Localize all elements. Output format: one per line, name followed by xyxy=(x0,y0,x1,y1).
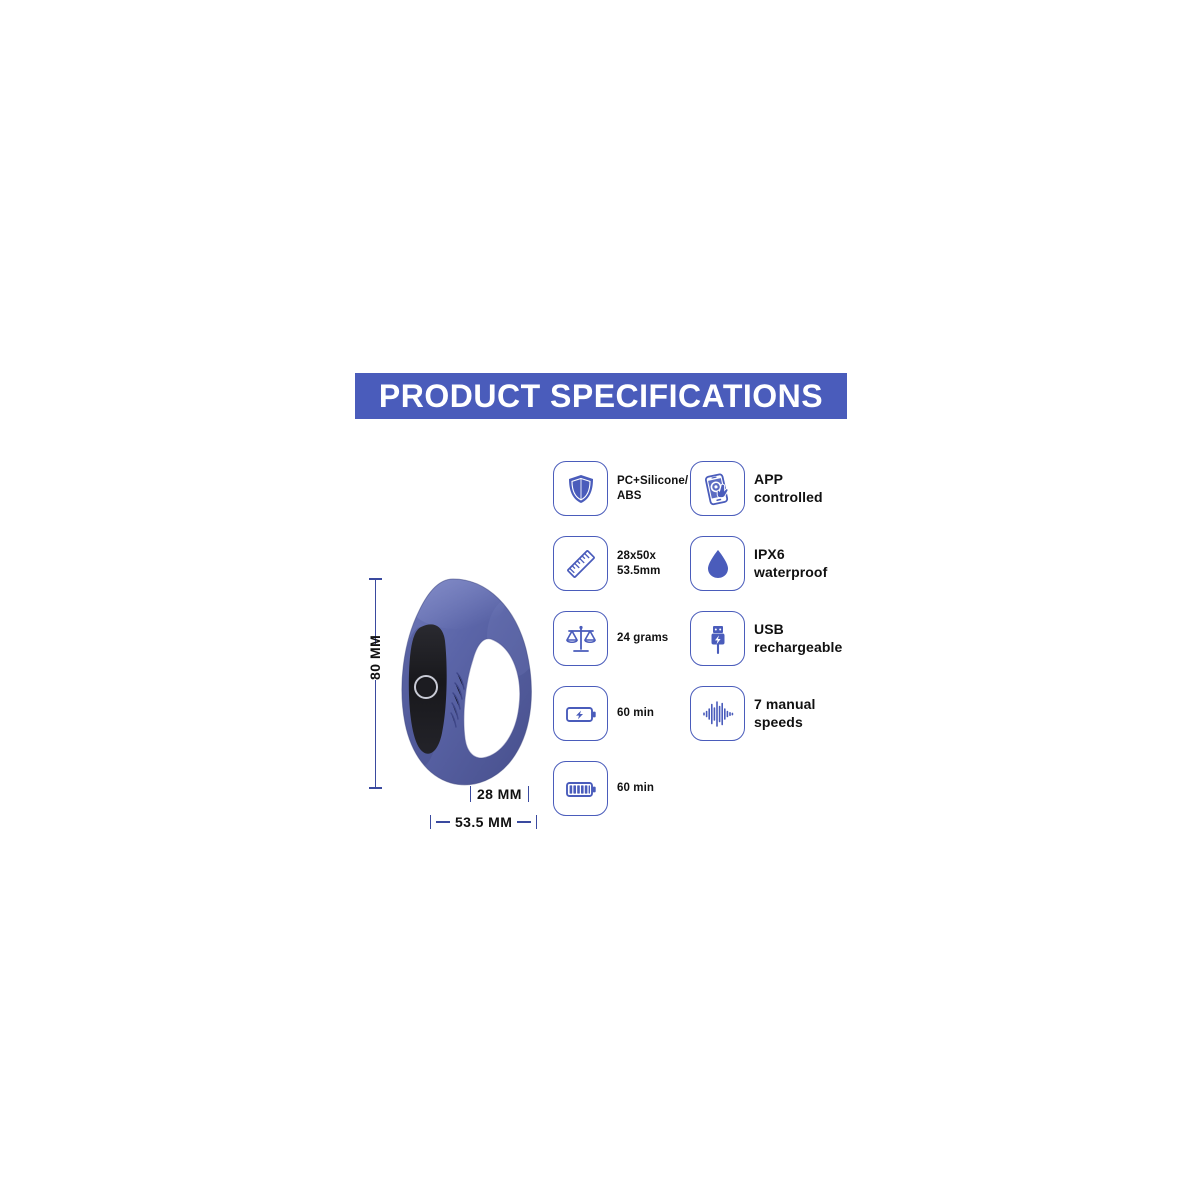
spec-label-speeds: 7 manualspeeds xyxy=(754,696,816,730)
spec-item-waterproof: IPX6waterproof xyxy=(690,536,860,591)
battery-full-icon xyxy=(553,761,608,816)
dim-height-label: 80 MM xyxy=(365,644,385,680)
spec-row: 28x50x53.5mm IPX6waterproof xyxy=(553,536,863,611)
dim-height-line xyxy=(375,578,376,788)
balance-scale-icon xyxy=(553,611,608,666)
spec-item-size: 28x50x53.5mm xyxy=(553,536,690,591)
spec-item-charge-time: 60 min xyxy=(553,686,690,741)
product-spec-sheet: PRODUCT SPECIFICATIONS xyxy=(0,0,1200,1200)
dim-width: 53.5 MM xyxy=(430,814,537,830)
spec-row: 60 min xyxy=(553,761,863,836)
dim-width-label: 53.5 MM xyxy=(455,814,512,830)
dim-depth-label: 28 MM xyxy=(477,786,522,802)
usb-plug-icon xyxy=(690,611,745,666)
ruler-icon xyxy=(553,536,608,591)
specifications-grid: PC+Silicone/ABS xyxy=(553,461,863,836)
dim-height-cap-bottom xyxy=(369,787,382,789)
spec-label-material: PC+Silicone/ABS xyxy=(617,474,688,502)
dim-width-bar-left xyxy=(436,821,450,823)
spec-item-weight: 24 grams xyxy=(553,611,690,666)
spec-label-app-controlled: APPcontrolled xyxy=(754,471,823,505)
phone-touch-icon xyxy=(690,461,745,516)
dim-depth-tick-left xyxy=(470,786,471,802)
spec-row: 24 grams USBrechargeable xyxy=(553,611,863,686)
spec-label-waterproof: IPX6waterproof xyxy=(754,546,827,580)
dim-width-cap-right xyxy=(536,815,537,829)
dim-depth: 28 MM xyxy=(470,786,529,802)
spec-item-usb: USBrechargeable xyxy=(690,611,860,666)
spec-item-run-time: 60 min xyxy=(553,761,690,816)
product-illustration xyxy=(395,577,540,792)
page-title: PRODUCT SPECIFICATIONS xyxy=(379,380,823,412)
spec-item-app-controlled: APPcontrolled xyxy=(690,461,860,516)
product-photo xyxy=(360,555,560,845)
spec-label-size: 28x50x53.5mm xyxy=(617,549,660,577)
spec-label-run-time: 60 min xyxy=(617,781,654,795)
spec-row: PC+Silicone/ABS xyxy=(553,461,863,536)
dim-width-bar-right xyxy=(517,821,531,823)
battery-charging-icon xyxy=(553,686,608,741)
spec-row: 60 min xyxy=(553,686,863,761)
spec-label-usb: USBrechargeable xyxy=(754,621,842,655)
spec-label-weight: 24 grams xyxy=(617,631,668,645)
page-title-banner: PRODUCT SPECIFICATIONS xyxy=(355,373,847,419)
spec-item-speeds: 7 manualspeeds xyxy=(690,686,860,741)
dim-width-cap-left xyxy=(430,815,431,829)
dim-depth-tick-right xyxy=(528,786,529,802)
spec-item-material: PC+Silicone/ABS xyxy=(553,461,690,516)
shield-icon xyxy=(553,461,608,516)
water-drop-icon xyxy=(690,536,745,591)
spec-label-charge-time: 60 min xyxy=(617,706,654,720)
sound-wave-icon xyxy=(690,686,745,741)
